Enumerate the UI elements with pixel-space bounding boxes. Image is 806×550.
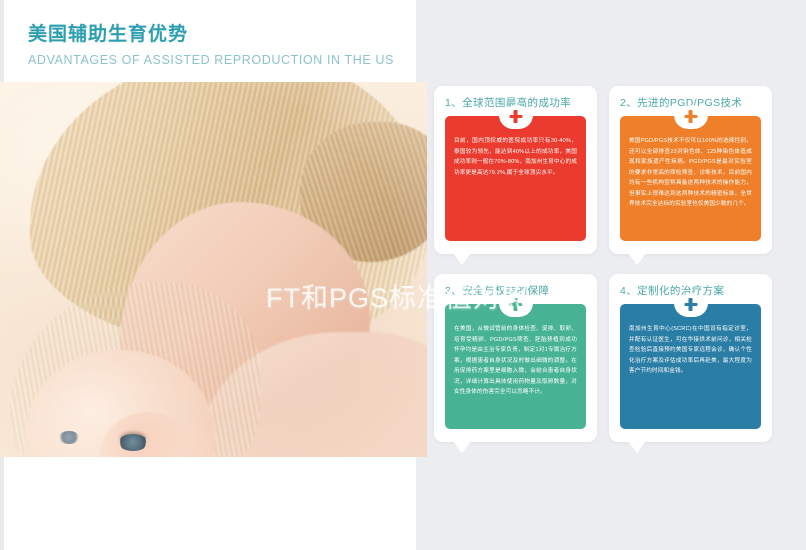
advantage-card-1-body: 目前，国内顶权威的医院成功率只有30-40%，泰国较为领先，能达到40%以上的成…	[454, 136, 577, 178]
page-title: 美国辅助生育优势	[28, 22, 408, 48]
advantage-card-3-tail	[453, 441, 471, 453]
advantage-card-4-title: 4、定制化的治疗方案	[620, 283, 724, 298]
advantage-card-3[interactable]: 3、安全与权益的保障 在美国，从做试管前的身体检查、促排、取卵、培育受精卵、PG…	[434, 274, 597, 442]
advantage-card-4[interactable]: 4、定制化的治疗方案 南加州生育中心(SCRC)在中国设有指定诊室，并配有认证医…	[609, 274, 772, 442]
advantage-card-4-tail	[628, 441, 646, 453]
advantage-card-1[interactable]: 1、全球范围最高的成功率 目前，国内顶权威的医院成功率只有30-40%，泰国较为…	[434, 86, 597, 254]
advantage-card-1-tail	[453, 253, 471, 265]
advantage-card-2-panel: 美国PGD/PGS技术不仅可以100%的选择性别，还可以全部排查23对染色体、1…	[620, 116, 761, 241]
advantage-card-2-body: 美国PGD/PGS技术不仅可以100%的选择性别，还可以全部排查23对染色体、1…	[629, 136, 752, 210]
advantage-card-2[interactable]: 2、先进的PGD/PGS技术 美国PGD/PGS技术不仅可以100%的选择性别，…	[609, 86, 772, 254]
advantage-card-1-panel: 目前，国内顶权威的医院成功率只有30-40%，泰国较为领先，能达到40%以上的成…	[445, 116, 586, 241]
plus-icon	[679, 293, 702, 316]
advantage-card-4-body: 南加州生育中心(SCRC)在中国设有指定诊室，并配有认证医生，可在华接供术前问诊…	[629, 324, 752, 377]
advantage-card-3-body: 在美国，从做试管前的身体检查、促排、取卵、培育受精卵、PGD/PGS筛查、胚胎移…	[454, 324, 577, 398]
plus-icon	[679, 105, 702, 128]
plus-icon	[504, 293, 527, 316]
hero-photo-art	[0, 82, 427, 457]
hero-photo	[0, 82, 427, 457]
advantage-card-2-tail	[628, 253, 646, 265]
page-subtitle: ADVANTAGES OF ASSISTED REPRODUCTION IN T…	[28, 50, 408, 70]
page-header: 美国辅助生育优势 ADVANTAGES OF ASSISTED REPRODUC…	[28, 22, 408, 70]
advantage-card-3-title: 3、安全与权益的保障	[445, 283, 549, 298]
page-sheet: 美国辅助生育优势 ADVANTAGES OF ASSISTED REPRODUC…	[0, 0, 806, 550]
advantage-card-4-panel: 南加州生育中心(SCRC)在中国设有指定诊室，并配有认证医生，可在华接供术前问诊…	[620, 304, 761, 429]
plus-icon	[504, 105, 527, 128]
advantage-card-3-panel: 在美国，从做试管前的身体检查、促排、取卵、培育受精卵、PGD/PGS筛查、胚胎移…	[445, 304, 586, 429]
photo-vignette	[0, 82, 427, 457]
